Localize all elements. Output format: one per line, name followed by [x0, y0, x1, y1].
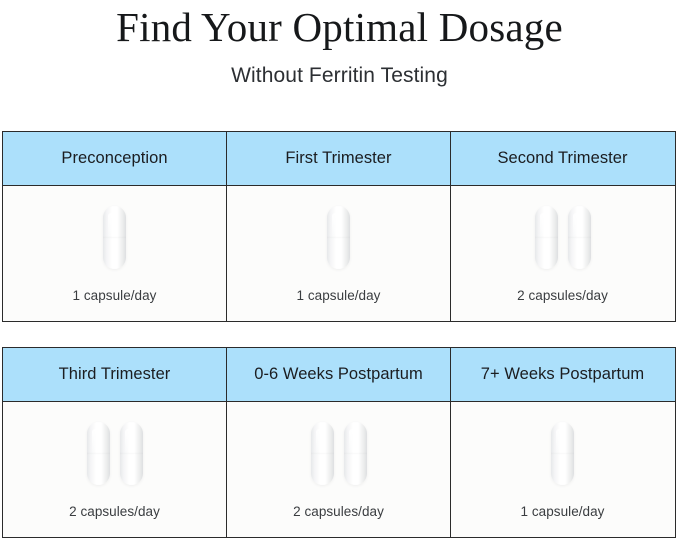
table-header-cell: Preconception — [3, 132, 226, 185]
table-body-cell: 1 capsule/day — [3, 186, 226, 321]
table-header-row: Third Trimester 0-6 Weeks Postpartum 7+ … — [3, 348, 675, 402]
stage-label: 7+ Weeks Postpartum — [481, 365, 644, 384]
table-header-cell: Second Trimester — [450, 132, 674, 185]
table-body-cell: 1 capsule/day — [226, 186, 450, 321]
capsule-icon — [103, 206, 126, 269]
dose-caption: 1 capsule/day — [521, 498, 605, 519]
stage-label: First Trimester — [285, 149, 391, 168]
heading-block: Find Your Optimal Dosage Without Ferriti… — [0, 0, 679, 89]
table-body-row: 2 capsules/day 2 capsules/day 1 capsule/… — [3, 402, 675, 537]
table-body-row: 1 capsule/day 1 capsule/day 2 capsules/d… — [3, 186, 675, 321]
page-title: Find Your Optimal Dosage — [0, 2, 679, 50]
table-header-cell: First Trimester — [226, 132, 450, 185]
capsule-group — [87, 402, 143, 498]
dose-caption: 1 capsule/day — [297, 282, 381, 303]
dose-caption: 2 capsules/day — [293, 498, 384, 519]
stage-label: Third Trimester — [59, 365, 171, 384]
page-subtitle: Without Ferritin Testing — [0, 50, 679, 89]
capsule-icon — [344, 422, 367, 485]
stage-label: Preconception — [61, 149, 167, 168]
capsule-icon — [535, 206, 558, 269]
capsule-group — [535, 186, 591, 282]
dose-caption: 2 capsules/day — [69, 498, 160, 519]
capsule-icon — [327, 206, 350, 269]
table-header-row: Preconception First Trimester Second Tri… — [3, 132, 675, 186]
capsule-icon — [551, 422, 574, 485]
capsule-group — [311, 402, 367, 498]
capsule-icon — [568, 206, 591, 269]
table-header-cell: Third Trimester — [3, 348, 226, 401]
table-body-cell: 2 capsules/day — [226, 402, 450, 537]
dosage-table-postpartum-stages: Third Trimester 0-6 Weeks Postpartum 7+ … — [2, 347, 676, 538]
table-body-cell: 1 capsule/day — [450, 402, 674, 537]
table-header-cell: 0-6 Weeks Postpartum — [226, 348, 450, 401]
capsule-group — [103, 186, 126, 282]
capsule-group — [551, 402, 574, 498]
table-header-cell: 7+ Weeks Postpartum — [450, 348, 674, 401]
capsule-icon — [87, 422, 110, 485]
capsule-icon — [311, 422, 334, 485]
stage-label: Second Trimester — [497, 149, 627, 168]
dose-caption: 1 capsule/day — [73, 282, 157, 303]
capsule-icon — [120, 422, 143, 485]
dosage-table-pregnancy-stages: Preconception First Trimester Second Tri… — [2, 131, 676, 322]
table-body-cell: 2 capsules/day — [3, 402, 226, 537]
table-body-cell: 2 capsules/day — [450, 186, 674, 321]
capsule-group — [327, 186, 350, 282]
dose-caption: 2 capsules/day — [517, 282, 608, 303]
stage-label: 0-6 Weeks Postpartum — [254, 365, 423, 384]
